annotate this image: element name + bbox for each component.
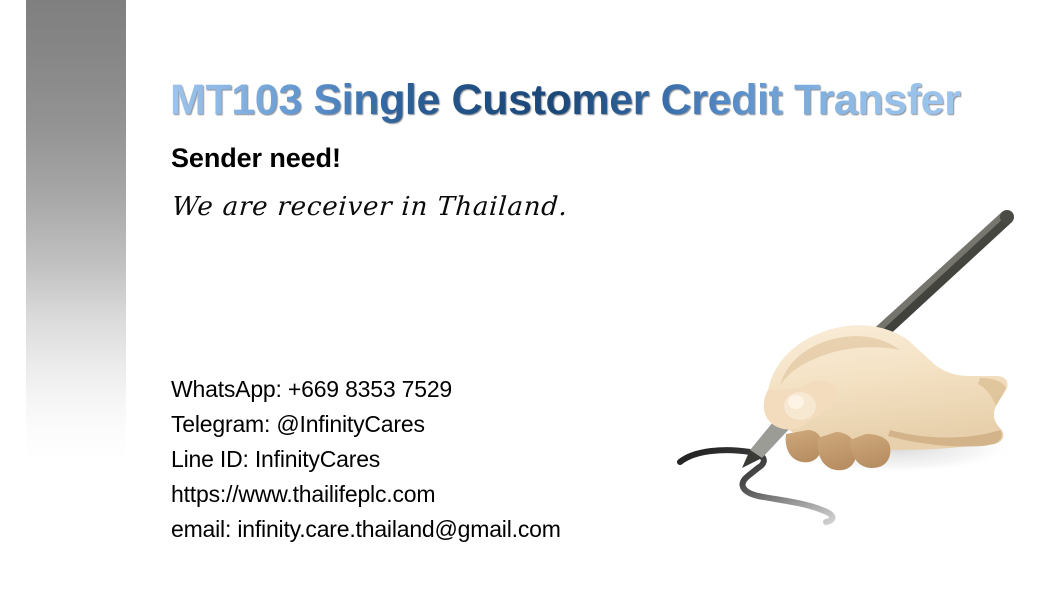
decorative-gradient-bar <box>26 0 126 460</box>
contact-line-whatsapp: WhatsApp: +669 8353 7529 <box>171 372 691 407</box>
subtitle-script-line: We are receiver in Thailand. <box>171 192 569 222</box>
pen-cap-end <box>1000 210 1014 224</box>
hand-thumb-knuckle-shine <box>788 395 804 409</box>
page-title: MT103 Single Customer Credit Transfer <box>170 76 1010 124</box>
heading-sender-need: Sender need! <box>171 143 341 174</box>
contact-line-line-id: Line ID: InfinityCares <box>171 442 691 477</box>
contact-line-telegram: Telegram: @InfinityCares <box>171 407 691 442</box>
contact-block: WhatsApp: +669 8353 7529 Telegram: @Infi… <box>171 372 691 547</box>
contact-line-email[interactable]: email: infinity.care.thailand@gmail.com <box>171 512 691 547</box>
hand-writing-with-pen-icon <box>650 200 1050 540</box>
contact-line-website[interactable]: https://www.thailifeplc.com <box>171 477 691 512</box>
slide-canvas: MT103 Single Customer Credit Transfer Se… <box>0 0 1063 600</box>
